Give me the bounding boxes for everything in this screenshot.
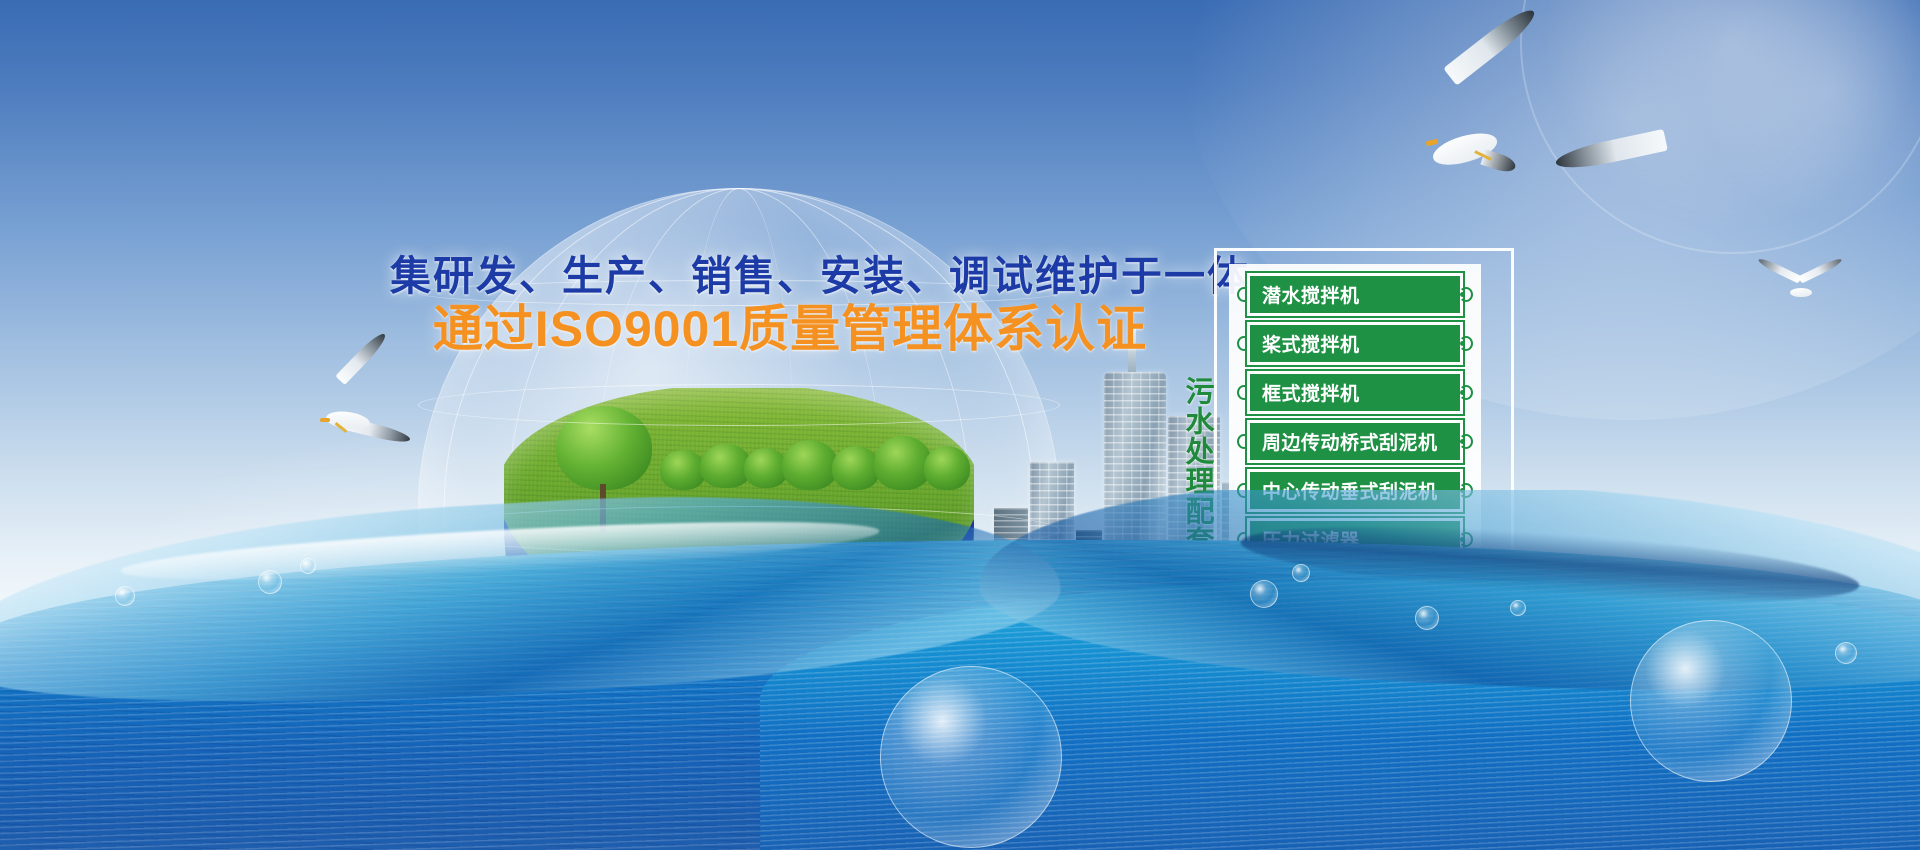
seagull-icon — [1378, 66, 1558, 216]
wing — [1798, 256, 1843, 283]
seagull-icon — [1756, 272, 1848, 320]
seagull-icon — [300, 372, 410, 458]
product-label: 框式搅拌机 — [1250, 379, 1360, 406]
product-list-item[interactable]: 潜水搅拌机 — [1237, 273, 1473, 316]
product-list-item[interactable]: 周边传动桥式刮泥机 — [1237, 420, 1473, 463]
clasp-right-dot-icon — [1460, 292, 1465, 297]
wing — [335, 330, 389, 385]
wing — [1443, 3, 1540, 86]
sky-glow-small — [1680, 0, 1920, 240]
clasp-right-dot-icon — [1460, 390, 1465, 395]
wing — [1757, 256, 1802, 283]
headline-secondary: 通过ISO9001质量管理体系认证 — [390, 302, 1190, 357]
bubble — [1630, 620, 1792, 782]
product-label: 桨式搅拌机 — [1250, 330, 1360, 357]
bubble — [1250, 580, 1278, 608]
bird-beak — [1426, 139, 1439, 147]
bird-body — [1790, 288, 1812, 297]
bubble — [1510, 600, 1526, 616]
globe-parallel — [418, 384, 1060, 426]
tree-icon — [874, 436, 932, 490]
bubble — [115, 586, 135, 606]
product-plate[interactable]: 周边传动桥式刮泥机 — [1247, 420, 1463, 463]
headline-primary: 集研发、生产、销售、安装、调试维护于一体 — [390, 254, 1190, 300]
product-list-item[interactable]: 桨式搅拌机 — [1237, 322, 1473, 365]
clasp-right-dot-icon — [1460, 439, 1465, 444]
tree-icon — [782, 440, 838, 490]
wing — [1554, 129, 1668, 174]
tree-icon — [832, 446, 880, 490]
bird-beak — [320, 418, 330, 422]
bird-tail — [1480, 149, 1517, 175]
bubble — [1835, 642, 1857, 664]
headline-block: 集研发、生产、销售、安装、调试维护于一体 通过ISO9001质量管理体系认证 — [390, 254, 1190, 357]
bubble — [300, 558, 316, 574]
clasp-right-dot-icon — [1460, 341, 1465, 346]
water-scene — [0, 490, 1920, 850]
bubble — [258, 570, 282, 594]
promo-banner: 集研发、生产、销售、安装、调试维护于一体 通过ISO9001质量管理体系认证 污… — [0, 0, 1920, 850]
bubble — [1292, 564, 1310, 582]
product-plate[interactable]: 潜水搅拌机 — [1247, 273, 1463, 316]
bubble — [880, 666, 1062, 848]
bird-body — [325, 409, 371, 432]
product-label: 潜水搅拌机 — [1250, 281, 1360, 308]
sky-glow-ring — [1520, 0, 1920, 254]
bubble — [1415, 606, 1439, 630]
product-plate[interactable]: 框式搅拌机 — [1247, 371, 1463, 414]
product-label: 周边传动桥式刮泥机 — [1250, 428, 1438, 455]
tree-icon — [924, 446, 970, 490]
product-plate[interactable]: 桨式搅拌机 — [1247, 322, 1463, 365]
product-list-item[interactable]: 框式搅拌机 — [1237, 371, 1473, 414]
